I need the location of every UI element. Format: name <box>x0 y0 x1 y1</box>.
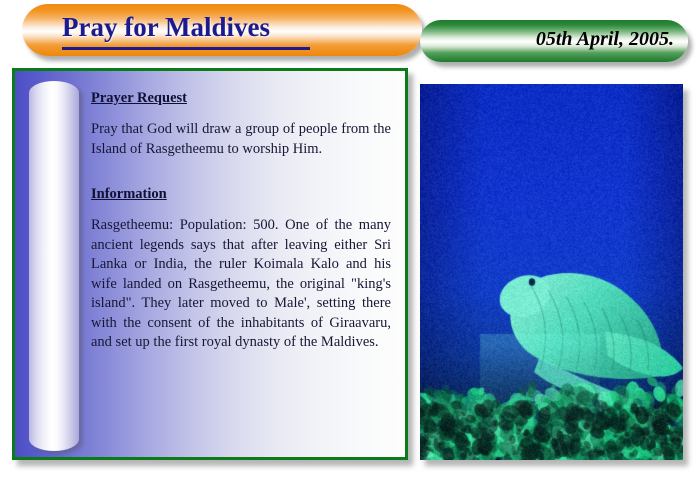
date-banner: 05th April, 2005. <box>420 20 688 62</box>
prayer-request-body: Pray that God will draw a group of peopl… <box>91 120 391 159</box>
information-block: Information Rasgetheemu: Population: 500… <box>91 185 391 353</box>
photo-frame <box>420 84 683 460</box>
date-label: 05th April, 2005. <box>536 28 674 51</box>
title-banner: Pray for Maldives <box>22 4 422 56</box>
prayer-request-block: Prayer Request Pray that God will draw a… <box>91 89 391 159</box>
page-title: Pray for Maldives <box>62 12 270 43</box>
decorative-pillar-graphic <box>29 81 79 451</box>
content-panel: Prayer Request Pray that God will draw a… <box>12 68 408 460</box>
information-heading: Information <box>91 186 167 203</box>
sea-turtle-photo <box>420 84 683 460</box>
page-title-underline <box>62 47 310 50</box>
information-body: Rasgetheemu: Population: 500. One of the… <box>91 216 391 353</box>
content-column: Prayer Request Pray that God will draw a… <box>91 89 391 353</box>
prayer-request-heading: Prayer Request <box>91 90 187 107</box>
